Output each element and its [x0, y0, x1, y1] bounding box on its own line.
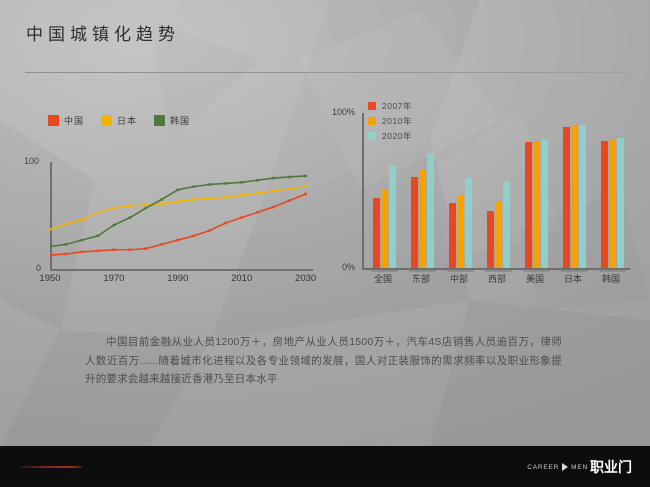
- bar-2007年: [449, 203, 456, 268]
- bar-group: [563, 125, 586, 268]
- bar-2020年: [617, 138, 624, 268]
- bar-chart: 2007年 2010年 2020年 100% 0% 全国东部中部西部美国日本韩国: [330, 96, 635, 291]
- line-y-max-label: 100: [24, 156, 39, 166]
- bar-2010年: [381, 189, 388, 268]
- bar-2007年: [487, 211, 494, 268]
- legend-swatch-2007: [368, 102, 376, 110]
- legend-item-korea: 韩国: [154, 114, 190, 127]
- line-x-tick: 2010: [231, 273, 252, 284]
- bar-2010年: [495, 201, 502, 268]
- bar-2010年: [571, 125, 578, 268]
- bar-2020年: [503, 181, 510, 268]
- bar-group: [601, 138, 624, 268]
- line-y-min-label: 0: [36, 263, 41, 273]
- bar-2020年: [427, 153, 434, 268]
- bar-y-max-label: 100%: [332, 107, 355, 117]
- play-triangle-icon: [562, 463, 568, 471]
- bar-group: [525, 139, 548, 268]
- legend-label-korea: 韩国: [170, 114, 190, 127]
- bar-2010年: [457, 195, 464, 268]
- bar-2020年: [389, 166, 396, 268]
- line-x-tick: 2030: [295, 273, 316, 284]
- bar-y-min-label: 0%: [342, 262, 355, 272]
- page-title: 中国城镇化趋势: [26, 20, 180, 45]
- bar-x-tick: 韩国: [602, 272, 620, 285]
- line-x-tick: 1990: [167, 273, 188, 284]
- slide-footer: CAREER MEN 职业门: [0, 446, 650, 487]
- bar-group: [487, 181, 510, 268]
- bar-x-tick: 美国: [526, 272, 544, 285]
- bar-x-tick: 西部: [488, 272, 506, 285]
- bar-x-tick: 东部: [412, 272, 430, 285]
- bar-2007年: [411, 177, 418, 268]
- bar-chart-plot: [364, 113, 630, 268]
- bar-2020年: [541, 139, 548, 268]
- bar-group: [449, 178, 472, 268]
- body-paragraph: 中国目前金融从业人员1200万＋，房地产从业人员1500万＋，汽车4S店销售人员…: [85, 333, 562, 389]
- logo-text-career: CAREER: [527, 464, 559, 471]
- bar-group: [373, 166, 396, 268]
- footer-accent-line: [20, 466, 82, 468]
- legend-swatch-china: [48, 115, 59, 126]
- logo-text-men: MEN: [571, 464, 588, 471]
- title-divider: [25, 72, 630, 73]
- bar-2007年: [563, 127, 570, 268]
- legend-item-2007: 2007年: [368, 100, 412, 112]
- bar-2007年: [601, 141, 608, 268]
- line-chart: 中国 日本 韩国 100 0 19501970199020102030: [22, 112, 322, 292]
- legend-swatch-korea: [154, 115, 165, 126]
- legend-label-2007: 2007年: [382, 100, 412, 112]
- bar-x-tick: 全国: [374, 272, 392, 285]
- slide-canvas: 中国城镇化趋势 中国 日本 韩国 100 0 19501970199020102…: [0, 0, 650, 487]
- bar-2010年: [533, 141, 540, 268]
- bar-2010年: [419, 170, 426, 268]
- brand-logo: CAREER MEN 职业门: [527, 457, 632, 477]
- bar-2020年: [579, 125, 586, 268]
- bar-x-tick: 中部: [450, 272, 468, 285]
- line-x-axis: [50, 269, 313, 271]
- legend-item-china: 中国: [48, 114, 84, 127]
- legend-label-japan: 日本: [117, 114, 137, 127]
- legend-item-japan: 日本: [101, 114, 137, 127]
- line-chart-legend: 中国 日本 韩国: [48, 114, 190, 127]
- bar-2010年: [609, 139, 616, 268]
- line-x-tick: 1950: [39, 273, 60, 284]
- bar-2007年: [525, 142, 532, 268]
- logo-text-chinese: 职业门: [590, 457, 632, 477]
- bar-2020年: [465, 178, 472, 268]
- bar-group: [411, 153, 434, 268]
- bar-x-tick: 日本: [564, 272, 582, 285]
- legend-swatch-japan: [101, 115, 112, 126]
- bar-2007年: [373, 198, 380, 268]
- line-x-tick: 1970: [103, 273, 124, 284]
- legend-label-china: 中国: [64, 114, 84, 127]
- line-chart-plot: [50, 162, 312, 269]
